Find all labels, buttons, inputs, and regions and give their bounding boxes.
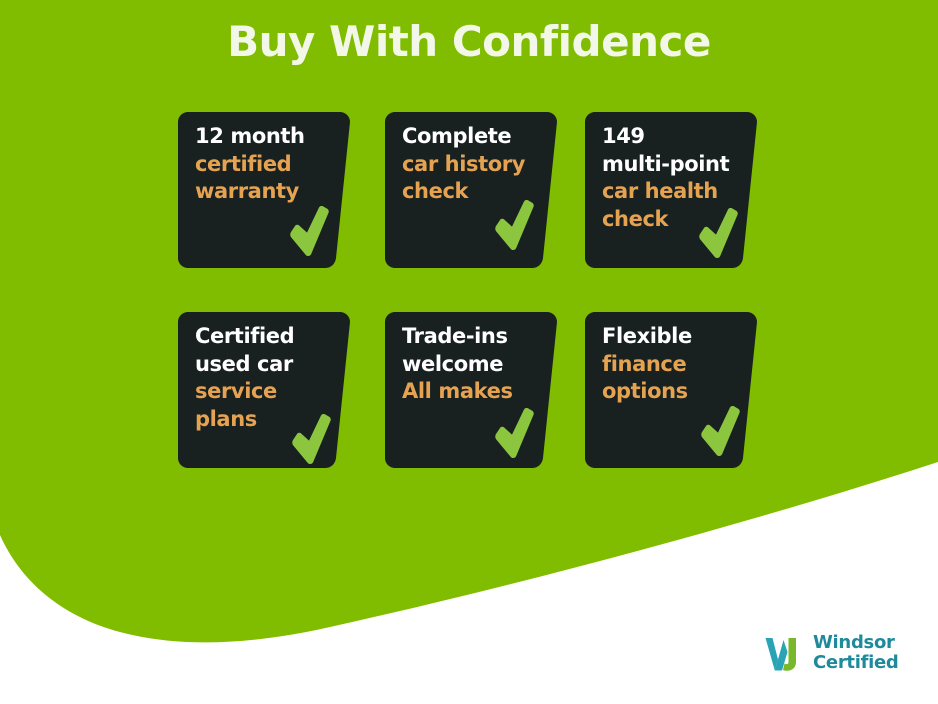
benefit-card[interactable]: 12 month certified warranty	[178, 110, 350, 268]
card-line-accent: warranty	[195, 178, 333, 206]
check-mark-icon	[697, 208, 739, 260]
card-line-accent: All makes	[402, 378, 540, 406]
card-line-accent: car health	[602, 178, 740, 206]
benefit-card[interactable]: 149 multi-point car health check	[585, 110, 757, 268]
card-line-accent: finance	[602, 351, 740, 379]
check-mark-icon	[699, 406, 741, 458]
windsor-w-mark-icon	[762, 632, 804, 674]
card-line-white: 12 month	[195, 123, 333, 151]
card-line-accent: certified	[195, 151, 333, 179]
benefit-card[interactable]: Trade-ins welcome All makes	[385, 310, 557, 468]
check-mark-icon	[288, 206, 330, 258]
brand-logo-text: Windsor Certified	[813, 633, 898, 673]
card-line-accent: options	[602, 378, 740, 406]
card-line-accent: service	[195, 378, 333, 406]
benefit-card[interactable]: Complete car history check	[385, 110, 557, 268]
page-title: Buy With Confidence	[0, 18, 938, 66]
brand-name-line1: Windsor	[813, 633, 898, 653]
check-mark-icon	[493, 408, 535, 460]
benefit-card-grid: 12 month certified warranty Complete car…	[178, 110, 766, 468]
card-line-accent: car history	[402, 151, 540, 179]
card-line-white: multi-point	[602, 151, 740, 179]
card-line-white: Trade-ins	[402, 323, 540, 351]
card-line-white: Complete	[402, 123, 540, 151]
brand-logo[interactable]: Windsor Certified	[762, 626, 922, 680]
check-mark-icon	[290, 414, 332, 466]
card-line-white: Flexible	[602, 323, 740, 351]
check-mark-icon	[493, 200, 535, 252]
card-line-white: Certified	[195, 323, 333, 351]
brand-name-line2: Certified	[813, 653, 898, 673]
slide-canvas: Buy With Confidence 12 month certified w…	[0, 0, 938, 704]
benefit-card[interactable]: Certified used car service plans	[178, 310, 350, 468]
card-line-white: 149	[602, 123, 740, 151]
benefit-card[interactable]: Flexible finance options	[585, 310, 757, 468]
card-line-white: welcome	[402, 351, 540, 379]
card-line-white: used car	[195, 351, 333, 379]
